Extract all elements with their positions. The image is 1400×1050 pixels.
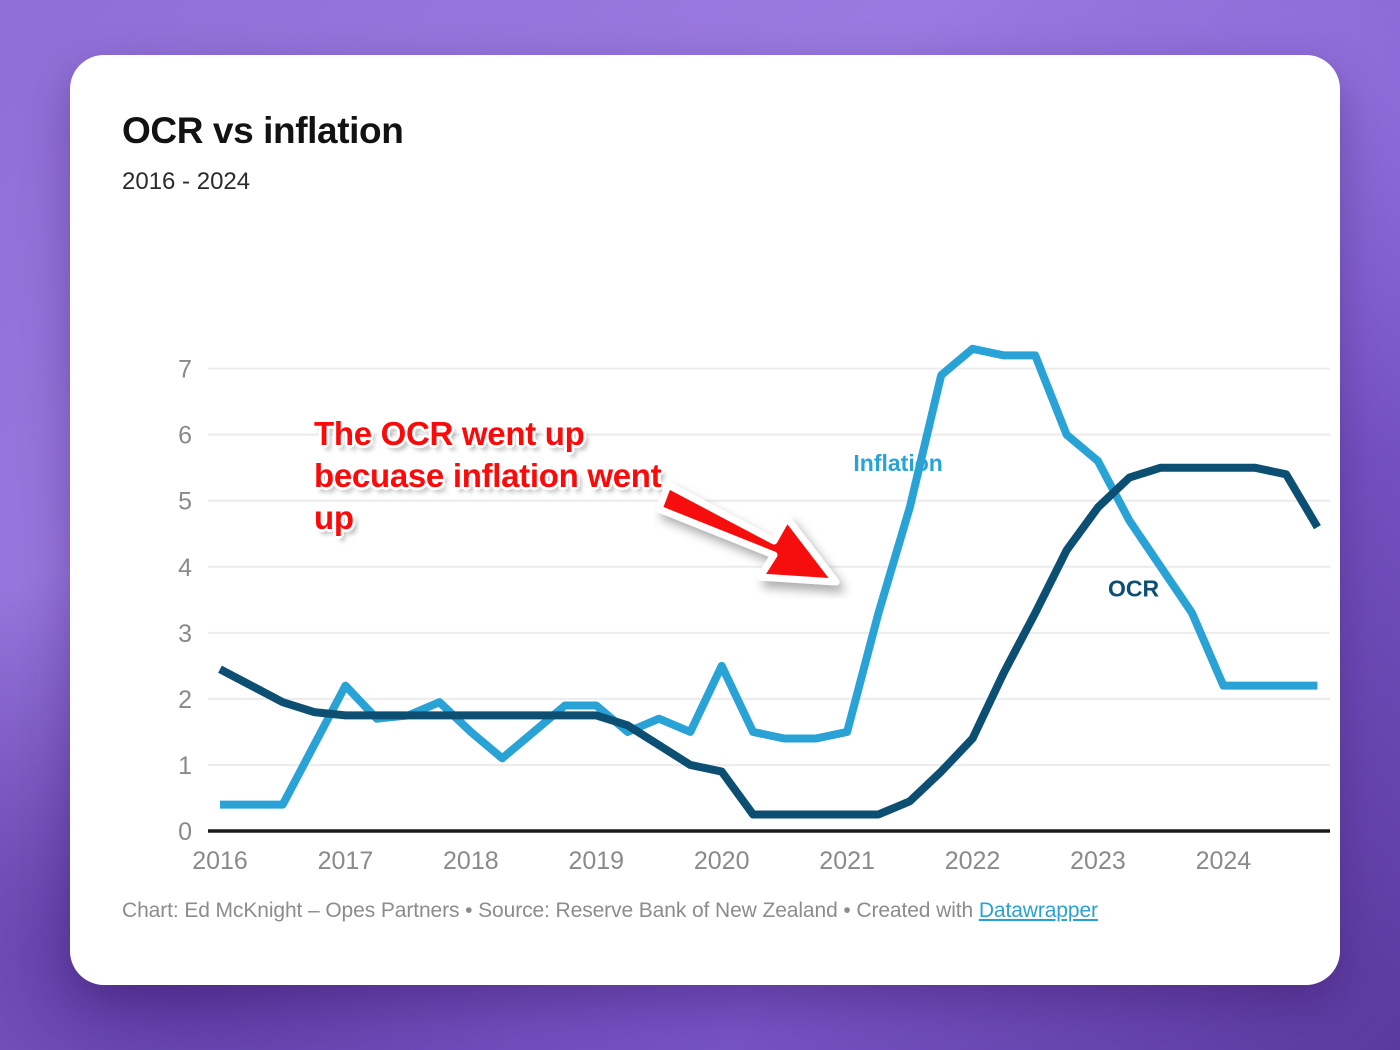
gridlines-group [208, 369, 1330, 831]
y-axis-tick-label: 5 [178, 488, 192, 516]
y-axis-tick-label: 1 [178, 752, 192, 780]
series-line-ocr [220, 468, 1317, 815]
chart-footer: Chart: Ed McKnight – Opes Partners • Sou… [122, 899, 1098, 923]
series-inline-labels: InflationOCR [853, 450, 1159, 602]
x-axis-tick-label: 2016 [192, 847, 248, 875]
x-axis-tick-label: 2020 [694, 847, 750, 875]
y-axis-tick-label: 4 [178, 554, 192, 582]
chart-subtitle: 2016 - 2024 [122, 168, 1340, 196]
x-axis-tick-labels: 201620172018201920202021202220232024 [192, 847, 1251, 875]
y-axis-tick-label: 0 [178, 818, 192, 846]
y-axis-tick-label: 3 [178, 620, 192, 648]
series-label-ocr: OCR [1108, 576, 1160, 602]
x-axis-tick-label: 2018 [443, 847, 499, 875]
page-title: OCR vs inflation [122, 111, 1340, 152]
x-axis-tick-label: 2022 [945, 847, 1001, 875]
y-axis-tick-label: 7 [178, 356, 192, 384]
x-axis-tick-label: 2019 [568, 847, 624, 875]
y-axis-tick-label: 6 [178, 422, 192, 450]
footer-credit-text: Chart: Ed McKnight – Opes Partners • Sou… [122, 899, 979, 922]
line-chart-svg: 01234567 2016201720182019202020212022202… [70, 251, 1340, 911]
x-axis-tick-label: 2024 [1196, 847, 1252, 875]
series-label-inflation: Inflation [853, 450, 942, 476]
y-axis-tick-label: 2 [178, 686, 192, 714]
chart-card: OCR vs inflation 2016 - 2024 01234567 20… [70, 55, 1340, 985]
chart-plot-area: 01234567 2016201720182019202020212022202… [70, 251, 1340, 911]
y-axis-tick-labels: 01234567 [178, 356, 192, 846]
x-axis-tick-label: 2023 [1070, 847, 1126, 875]
chart-header: OCR vs inflation 2016 - 2024 [70, 55, 1340, 196]
datawrapper-link[interactable]: Datawrapper [979, 899, 1098, 922]
x-axis-tick-label: 2017 [318, 847, 374, 875]
x-axis-tick-label: 2021 [819, 847, 875, 875]
